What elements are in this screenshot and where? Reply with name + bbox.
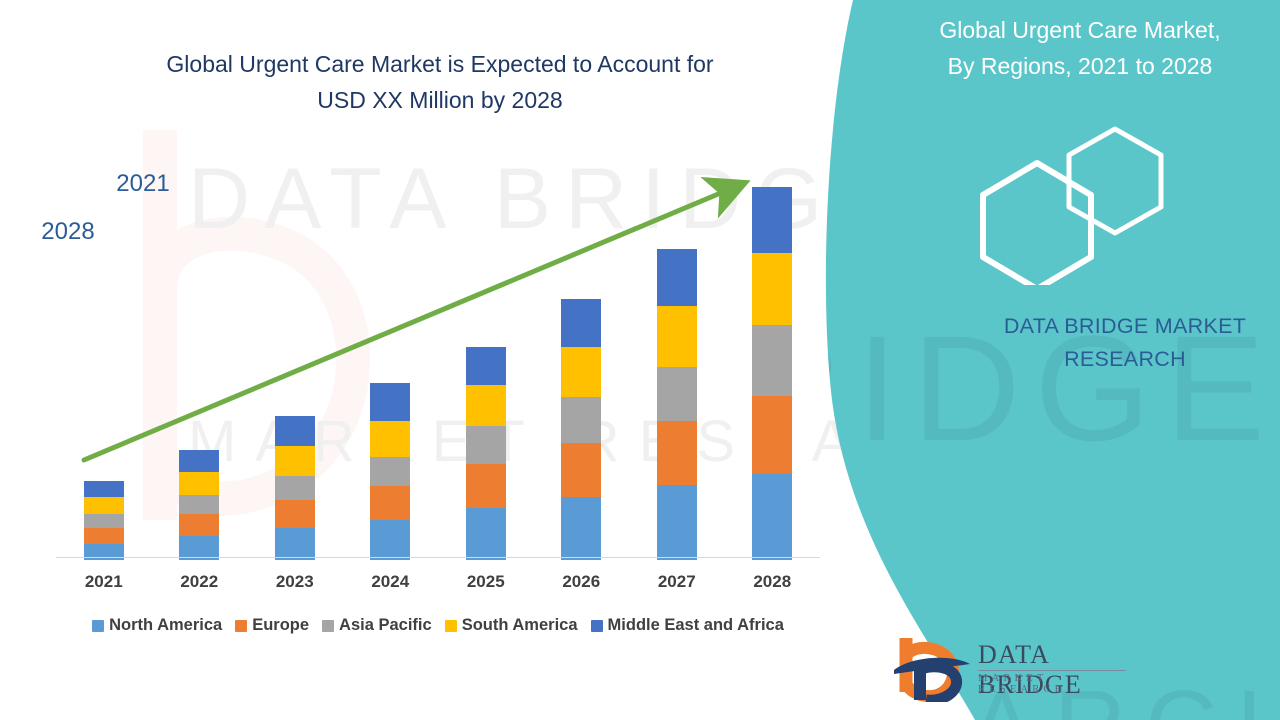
logo-sub-text: MARKET RESEARCH	[978, 673, 1130, 695]
bar-segment[interactable]	[466, 385, 506, 426]
chart-legend: North AmericaEuropeAsia PacificSouth Ame…	[56, 616, 820, 635]
bar-group-2022[interactable]	[179, 450, 219, 560]
bar-segment[interactable]	[561, 299, 601, 347]
bar-segment[interactable]	[466, 464, 506, 508]
chart-title-line1: Global Urgent Care Market is Expected to…	[60, 46, 820, 82]
legend-label: Europe	[252, 616, 309, 635]
bar-segment[interactable]	[179, 514, 219, 536]
chart-title-line2: USD XX Million by 2028	[60, 82, 820, 118]
legend-item[interactable]: Middle East and Africa	[591, 616, 784, 635]
bar-segment[interactable]	[370, 383, 410, 421]
panel-title-line1: Global Urgent Care Market,	[880, 12, 1280, 48]
bar-segment[interactable]	[370, 520, 410, 560]
bar-segment[interactable]	[275, 528, 315, 560]
legend-item[interactable]: Asia Pacific	[322, 616, 432, 635]
hexagon-2021-label: 2021	[88, 170, 198, 198]
bar-segment[interactable]	[275, 476, 315, 500]
hexagon-2028-label: 2028	[8, 218, 128, 246]
chart-plot-area	[56, 170, 820, 560]
legend-item[interactable]: Europe	[235, 616, 309, 635]
bar-segment[interactable]	[84, 497, 124, 514]
x-axis-label-2026: 2026	[533, 572, 629, 592]
company-logo: DATA BRIDGE MARKET RESEARCH	[890, 636, 1130, 704]
panel-brand-name: DATA BRIDGE MARKET RESEARCH	[960, 310, 1280, 376]
legend-label: South America	[462, 616, 578, 635]
legend-swatch-icon	[591, 620, 603, 632]
legend-label: Middle East and Africa	[608, 616, 784, 635]
bar-segment[interactable]	[179, 472, 219, 495]
bar-group-2024[interactable]	[370, 383, 410, 560]
x-axis-label-2022: 2022	[151, 572, 247, 592]
x-axis-labels: 20212022202320242025202620272028	[56, 572, 820, 600]
x-axis-label-2023: 2023	[247, 572, 343, 592]
slide-canvas: DATA BRIDGE MARKET RESEARCH Global Urgen…	[0, 0, 1280, 720]
bar-segment[interactable]	[657, 485, 697, 560]
bar-segment[interactable]	[657, 367, 697, 421]
hexagon-2028-shape	[983, 163, 1091, 285]
legend-label: Asia Pacific	[339, 616, 432, 635]
logo-mark-icon	[890, 636, 976, 702]
legend-swatch-icon	[92, 620, 104, 632]
bar-segment[interactable]	[179, 495, 219, 514]
legend-item[interactable]: South America	[445, 616, 578, 635]
bar-segment[interactable]	[275, 446, 315, 476]
bar-group-2027[interactable]	[657, 249, 697, 560]
x-axis-line	[56, 557, 820, 558]
bar-group-2026[interactable]	[561, 299, 601, 560]
bar-segment[interactable]	[370, 457, 410, 486]
legend-label: North America	[109, 616, 222, 635]
legend-swatch-icon	[322, 620, 334, 632]
bar-segment[interactable]	[657, 249, 697, 306]
hexagon-badges	[975, 125, 1185, 275]
x-axis-label-2027: 2027	[629, 572, 725, 592]
bar-segment[interactable]	[84, 481, 124, 497]
bar-segment[interactable]	[179, 450, 219, 472]
bar-segment[interactable]	[370, 486, 410, 520]
bar-segment[interactable]	[84, 528, 124, 544]
bar-segment[interactable]	[657, 421, 697, 485]
bar-segment[interactable]	[466, 347, 506, 384]
bar-group-2021[interactable]	[84, 481, 124, 560]
panel-title-line2: By Regions, 2021 to 2028	[880, 48, 1280, 84]
legend-swatch-icon	[235, 620, 247, 632]
bar-segment[interactable]	[466, 508, 506, 560]
x-axis-label-2021: 2021	[56, 572, 152, 592]
hexagon-2021-shape	[1069, 129, 1161, 233]
bar-segment[interactable]	[561, 497, 601, 560]
bar-segment[interactable]	[84, 514, 124, 528]
legend-item[interactable]: North America	[92, 616, 222, 635]
bar-segment[interactable]	[275, 500, 315, 528]
bar-group-2025[interactable]	[466, 347, 506, 560]
chart-title: Global Urgent Care Market is Expected to…	[60, 46, 820, 118]
panel-title: Global Urgent Care Market, By Regions, 2…	[880, 12, 1280, 84]
bar-segment[interactable]	[561, 347, 601, 396]
bar-segment[interactable]	[561, 397, 601, 443]
x-axis-label-2025: 2025	[438, 572, 534, 592]
legend-swatch-icon	[445, 620, 457, 632]
panel-brand-line1: DATA BRIDGE MARKET	[960, 310, 1280, 343]
panel-brand-line2: RESEARCH	[960, 343, 1280, 376]
logo-divider	[978, 670, 1126, 671]
x-axis-label-2024: 2024	[342, 572, 438, 592]
bar-group-2023[interactable]	[275, 416, 315, 560]
bar-segment[interactable]	[561, 443, 601, 497]
bar-segment[interactable]	[657, 306, 697, 366]
bar-segment[interactable]	[466, 426, 506, 464]
hexagon-outlines	[975, 125, 1185, 285]
bar-segment[interactable]	[370, 421, 410, 457]
bar-segment[interactable]	[275, 416, 315, 446]
